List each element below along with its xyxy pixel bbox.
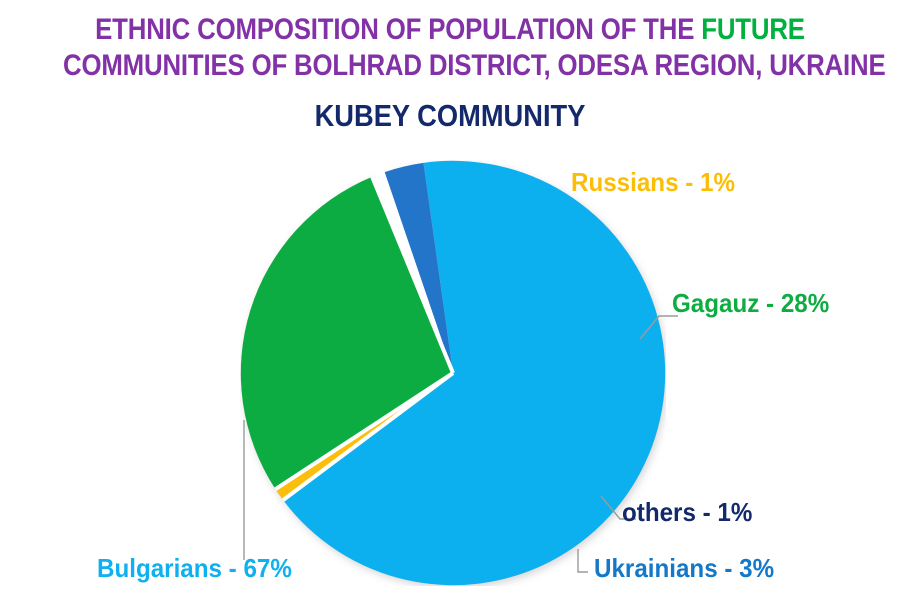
pie-label-ukrainians: Ukrainians - 3% bbox=[594, 553, 774, 583]
chart-page: ETHNIC COMPOSITION OF POPULATION OF THE … bbox=[0, 0, 900, 600]
page-title-line-1: ETHNIC COMPOSITION OF POPULATION OF THE … bbox=[63, 12, 837, 48]
pie-label-gagauz: Gagauz - 28% bbox=[672, 288, 829, 318]
page-title-highlight: FUTURE bbox=[701, 13, 805, 46]
pie-label-others: others - 1% bbox=[622, 497, 752, 527]
pie-label-russians: Russians - 1% bbox=[571, 167, 735, 197]
page-title-line-1-text: ETHNIC COMPOSITION OF POPULATION OF THE bbox=[95, 13, 701, 46]
chart-subtitle: KUBEY COMMUNITY bbox=[54, 98, 846, 134]
page-title: ETHNIC COMPOSITION OF POPULATION OF THE … bbox=[63, 12, 837, 84]
pie-chart bbox=[240, 160, 666, 586]
pie-label-bulgarians: Bulgarians - 67% bbox=[97, 553, 292, 583]
pie-chart-svg bbox=[240, 160, 666, 586]
page-title-line-2: COMMUNITIES OF BOLHRAD DISTRICT, ODESA R… bbox=[63, 48, 837, 84]
